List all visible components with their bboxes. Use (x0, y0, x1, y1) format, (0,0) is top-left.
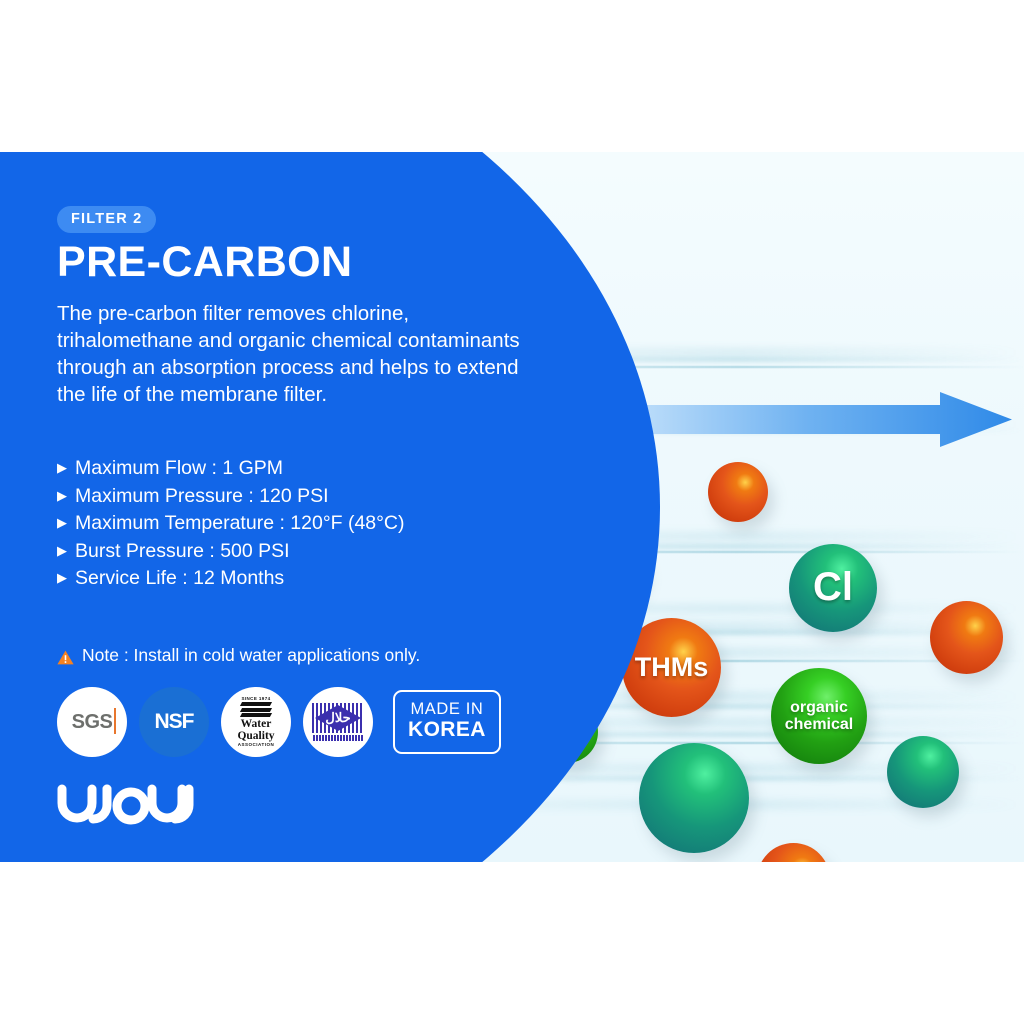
warning-triangle-icon (57, 649, 74, 664)
made-in-label: MADE IN (408, 701, 486, 719)
spec-item: ▶ Maximum Temperature : 120°F (48°C) (57, 510, 537, 538)
spec-item-label: Maximum Pressure : 120 PSI (75, 483, 329, 511)
halal-caption-bar (313, 735, 363, 741)
spec-item: ▶ Maximum Pressure : 120 PSI (57, 483, 537, 511)
cert-wqa-line3: ASSOCIATION (238, 743, 274, 748)
wqa-waves-icon (241, 702, 271, 717)
page-title: PRE-CARBON (57, 238, 352, 287)
halal-diamond-icon: حلال (315, 705, 361, 731)
spec-list: ▶ Maximum Flow : 1 GPM ▶ Maximum Pressur… (57, 455, 537, 593)
spec-item: ▶ Service Life : 12 Months (57, 565, 537, 593)
cert-badge-halal: حلال (303, 687, 373, 757)
note-line: Note : Install in cold water application… (57, 645, 420, 666)
spec-item-label: Service Life : 12 Months (75, 565, 284, 593)
spec-item-label: Burst Pressure : 500 PSI (75, 538, 290, 566)
spec-item-label: Maximum Temperature : 120°F (48°C) (75, 510, 405, 538)
molecule-label-thms: THMs (635, 653, 709, 682)
spec-item-label: Maximum Flow : 1 GPM (75, 455, 283, 483)
product-description: The pre-carbon filter removes chlorine, … (57, 300, 529, 408)
cert-badge-water-quality-association: SINCE 1974 Water Quality ASSOCIATION (221, 687, 291, 757)
molecule-label-organic-chemical: organic chemical (771, 699, 867, 734)
molecule-bubble (639, 743, 749, 853)
spec-item: ▶ Burst Pressure : 500 PSI (57, 538, 537, 566)
halal-frame-icon: حلال (312, 703, 364, 733)
cert-label-sgs: SGS (72, 711, 113, 734)
molecule-label-cl: Cl (813, 566, 853, 609)
triangle-bullet-icon: ▶ (57, 489, 67, 502)
cert-badge-sgs: SGS (57, 687, 127, 757)
cert-label-nsf: NSF (155, 710, 194, 734)
filter-number-badge: FILTER 2 (57, 206, 156, 233)
left-content: FILTER 2 PRE-CARBON The pre-carbon filte… (0, 0, 640, 1024)
certification-badges: SGS NSF SINCE 1974 Water Quality ASSOCIA… (57, 687, 501, 757)
cert-wqa-line1: Water (241, 719, 272, 731)
molecule-bubble (887, 736, 959, 808)
note-text: Note : Install in cold water application… (82, 645, 420, 666)
spec-item: ▶ Maximum Flow : 1 GPM (57, 455, 537, 483)
molecule-bubble (708, 462, 768, 522)
molecule-bubble-organic-chemical: organic chemical (771, 668, 867, 764)
cert-wqa-top: SINCE 1974 (241, 697, 270, 702)
cert-wqa-line2: Quality (237, 731, 274, 743)
screenshot-root: Cl THMs organic chemical FILTER 2 PRE-CA… (0, 0, 1024, 1024)
triangle-bullet-icon: ▶ (57, 544, 67, 557)
molecule-bubble (930, 601, 1003, 674)
flow-arrow-right-icon (640, 392, 1012, 447)
molecule-bubble-cl: Cl (789, 544, 877, 632)
cert-label-halal: حلال (325, 710, 350, 726)
korea-label: KOREA (408, 719, 486, 742)
cert-badge-nsf: NSF (139, 687, 209, 757)
made-in-korea-badge: MADE IN KOREA (393, 690, 501, 753)
wow-brand-logo (55, 783, 195, 834)
triangle-bullet-icon: ▶ (57, 571, 67, 584)
triangle-bullet-icon: ▶ (57, 516, 67, 529)
triangle-bullet-icon: ▶ (57, 461, 67, 474)
